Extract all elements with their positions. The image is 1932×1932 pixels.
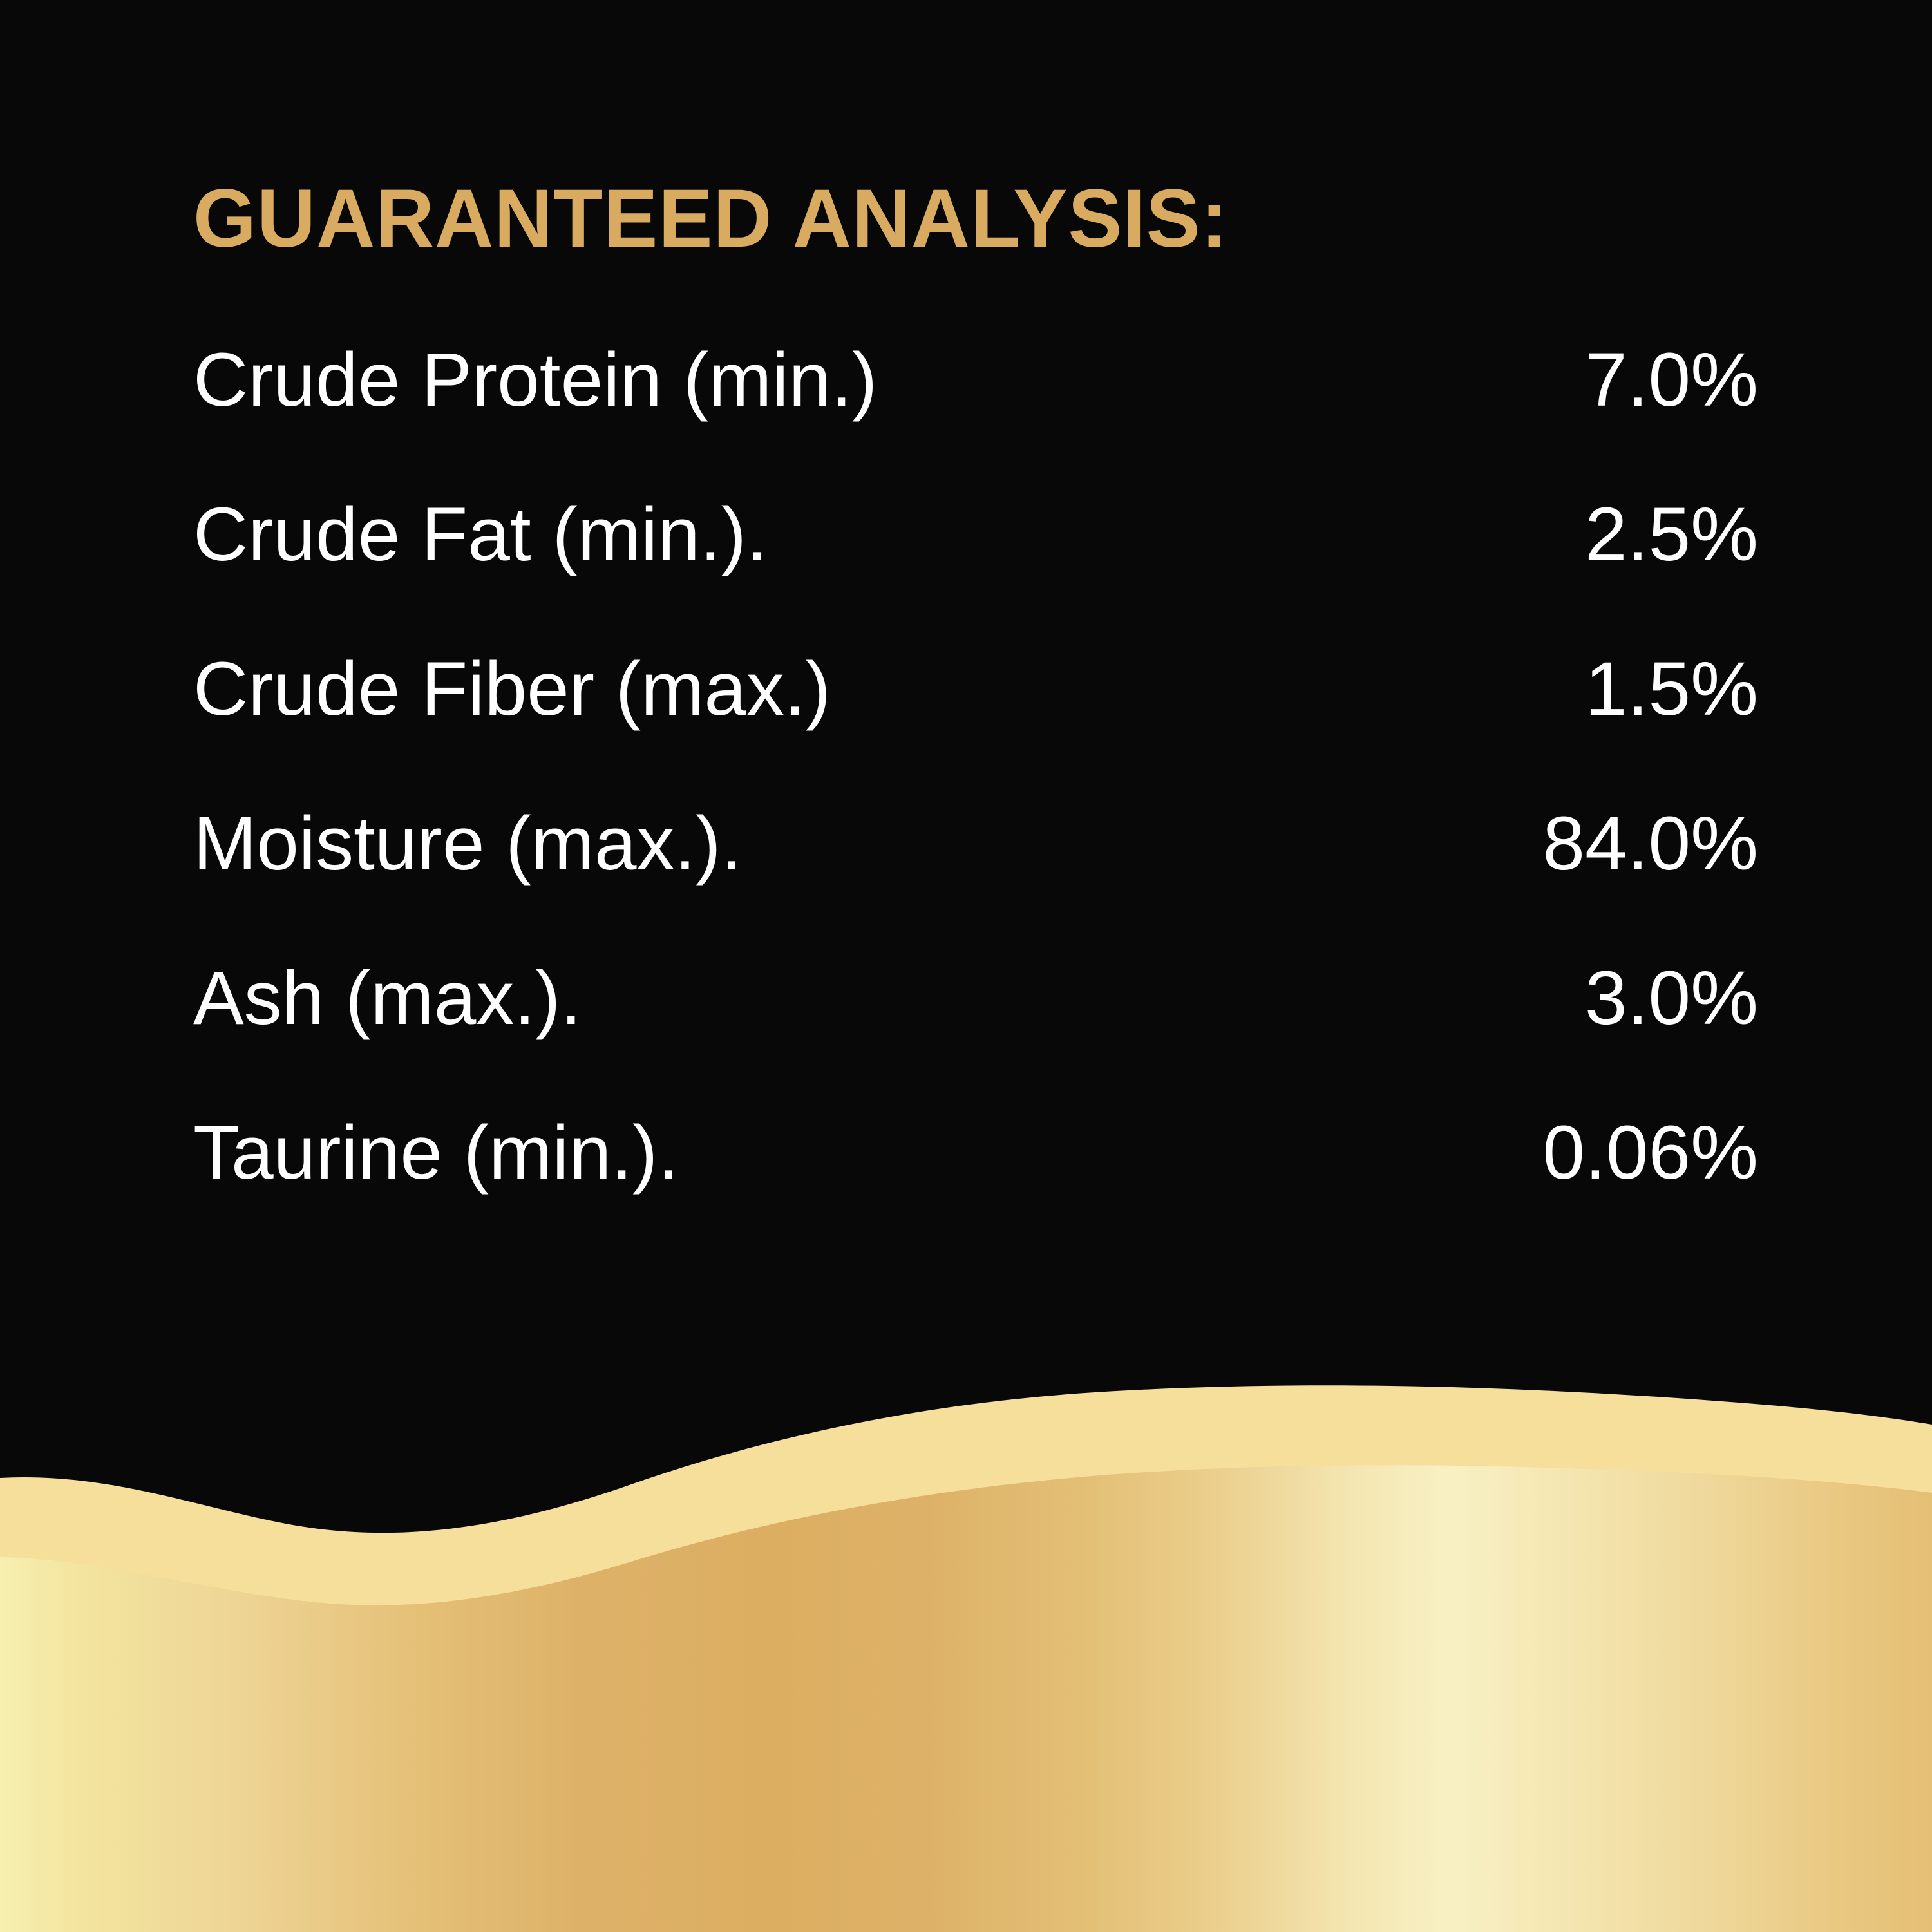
nutrient-label: Taurine (min.) (193, 1108, 658, 1198)
nutrient-label: Moisture (max.) (193, 799, 721, 889)
nutrient-value: 7.0% (1585, 335, 1758, 425)
table-row: Crude Protein (min.) 7.0% (193, 335, 1758, 489)
nutrient-value: 3.0% (1585, 953, 1758, 1043)
wave-upper-cream (0, 1385, 1932, 1932)
nutrient-value: 84.0% (1542, 799, 1758, 889)
leader-dots: . (746, 489, 1585, 580)
table-row: . Crude Fat (min.) 2.5% (193, 489, 1758, 644)
table-row: . Moisture (max.) 84.0% (193, 799, 1758, 953)
table-row: . Taurine (min.) 0.06% (193, 1108, 1758, 1262)
leader-dots: . (721, 799, 1543, 889)
wave-lower-gradient (0, 1465, 1932, 1932)
nutrient-value: 2.5% (1585, 489, 1758, 580)
leader-dots: . (658, 1108, 1542, 1198)
guaranteed-analysis-table: Crude Protein (min.) 7.0% . Crude Fat (m… (193, 335, 1758, 1262)
nutrient-value: 1.5% (1585, 644, 1758, 734)
nutrient-value: 0.06% (1542, 1108, 1758, 1198)
nutrient-label: Ash (max.) (193, 953, 560, 1043)
nutrient-label: Crude Protein (min.) (193, 335, 877, 425)
gold-wave-decoration (0, 1352, 1932, 1932)
product-label-panel: GUARANTEED ANALYSIS: Crude Protein (min.… (0, 0, 1932, 1932)
page-title: GUARANTEED ANALYSIS: (193, 178, 1229, 260)
nutrient-label: Crude Fiber (max.) (193, 644, 831, 734)
leader-dots: . (560, 953, 1585, 1043)
table-row: . Ash (max.) 3.0% (193, 953, 1758, 1108)
table-row: Crude Fiber (max.) 1.5% (193, 644, 1758, 799)
nutrient-label: Crude Fat (min.) (193, 489, 746, 580)
